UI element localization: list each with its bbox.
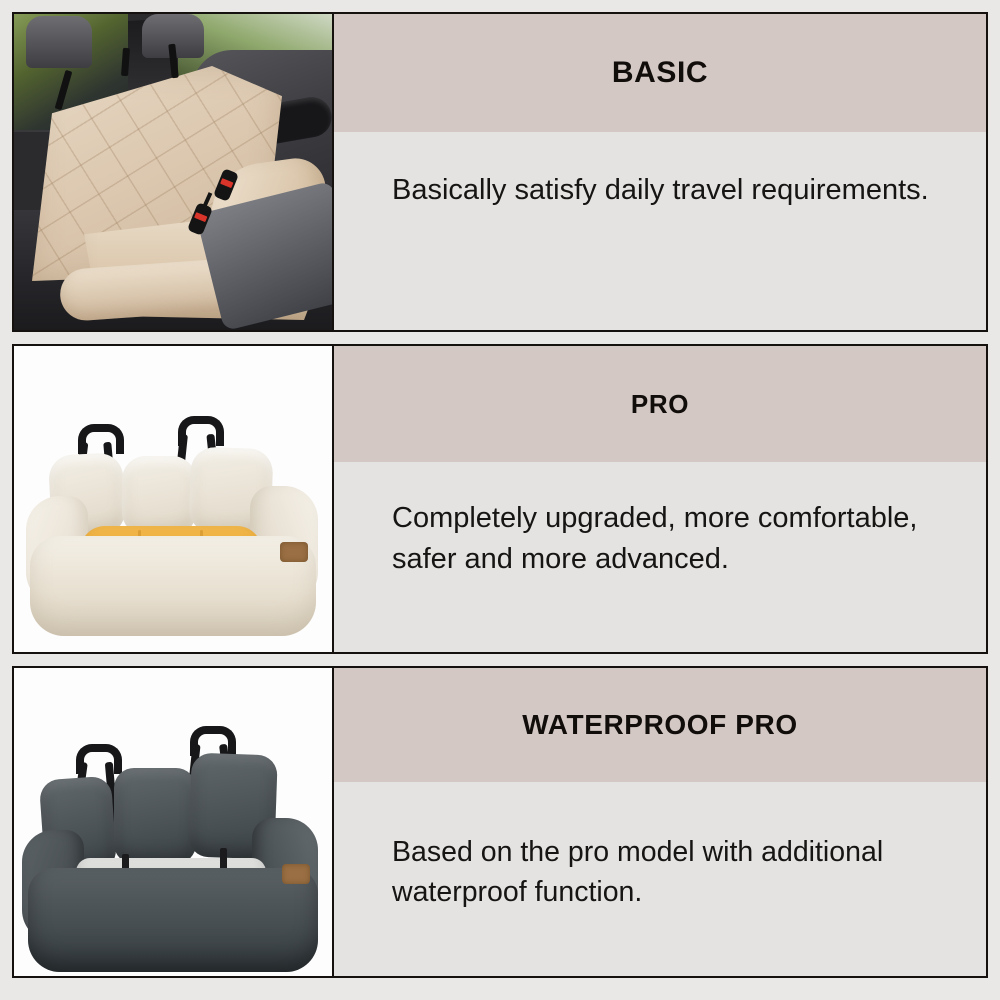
seat-body-base (28, 868, 318, 972)
pro-dog-car-seat-photo (14, 346, 332, 652)
tier-title-pro: PRO (334, 346, 986, 462)
seat-body-base (30, 536, 316, 636)
car-interior-photo (14, 14, 332, 330)
tier-text-basic: BASIC Basically satisfy daily travel req… (334, 14, 986, 330)
product-image-pro (14, 346, 334, 652)
product-tier-comparison-sheet: BASIC Basically satisfy daily travel req… (0, 0, 1000, 1000)
tier-title-waterproof-pro: WATERPROOF PRO (334, 668, 986, 782)
product-image-waterproof-pro (14, 668, 334, 976)
tier-description-basic: Basically satisfy daily travel requireme… (334, 132, 986, 330)
brand-leather-tag (282, 864, 310, 884)
waterproof-pro-dog-car-seat-photo (14, 668, 332, 976)
backrest-cushion-center (122, 456, 196, 536)
brand-leather-tag (280, 542, 308, 562)
car-headrest-left (26, 16, 92, 68)
product-image-basic (14, 14, 334, 330)
tier-row-pro: PRO Completely upgraded, more comfortabl… (12, 344, 988, 654)
tier-text-pro: PRO Completely upgraded, more comfortabl… (334, 346, 986, 652)
tier-description-pro: Completely upgraded, more comfortable, s… (334, 462, 986, 652)
tier-row-basic: BASIC Basically satisfy daily travel req… (12, 12, 988, 332)
tier-row-waterproof-pro: WATERPROOF PRO Based on the pro model wi… (12, 666, 988, 978)
backrest-cushion-center (114, 768, 196, 864)
tier-description-waterproof-pro: Based on the pro model with additional w… (334, 782, 986, 976)
tier-title-basic: BASIC (334, 14, 986, 132)
tier-text-waterproof-pro: WATERPROOF PRO Based on the pro model wi… (334, 668, 986, 976)
